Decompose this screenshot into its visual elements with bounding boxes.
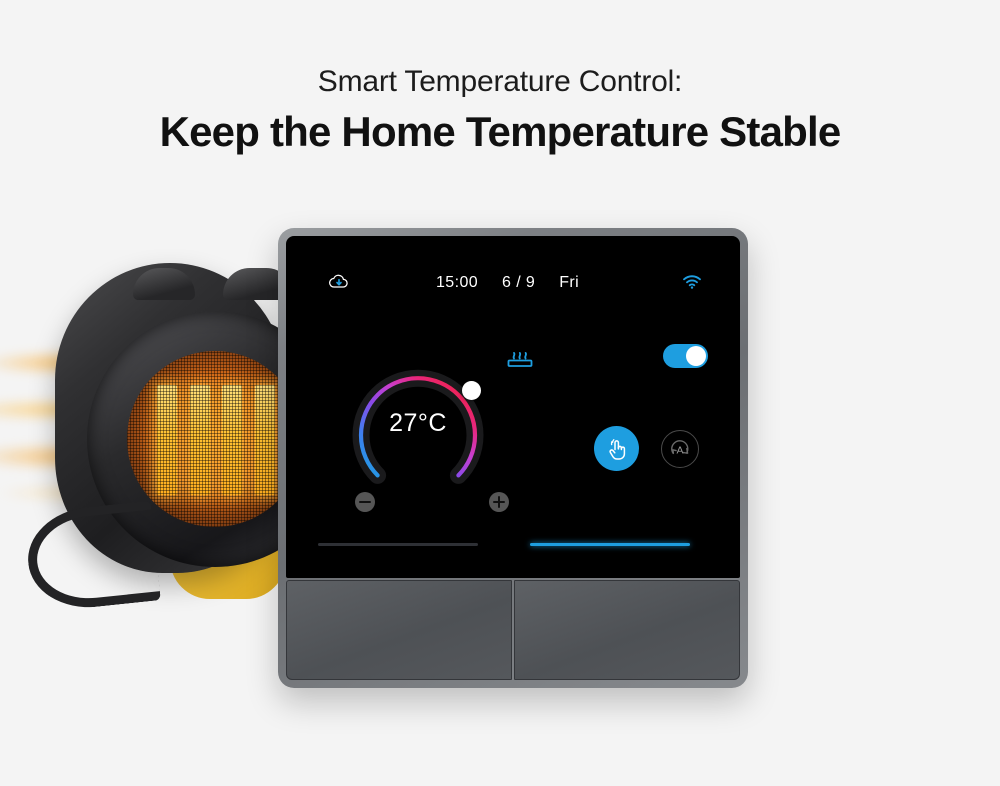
heating-element-icon bbox=[506, 344, 534, 375]
rocker-button-left[interactable] bbox=[286, 580, 512, 680]
temperature-increase-button[interactable] bbox=[488, 491, 510, 513]
rocker-button-group bbox=[286, 580, 740, 680]
manual-mode-button[interactable] bbox=[594, 426, 639, 471]
status-bar: 15:00 6 / 9 Fri bbox=[286, 274, 740, 296]
temperature-decrease-button[interactable] bbox=[354, 491, 376, 513]
power-toggle-knob bbox=[686, 346, 706, 366]
cloud-download-icon bbox=[328, 272, 350, 297]
auto-circle-arrow-icon: A bbox=[667, 436, 693, 462]
headline-main: Keep the Home Temperature Stable bbox=[0, 104, 1000, 160]
heater-knob-thermostat bbox=[133, 268, 195, 300]
dial-knob-handle[interactable] bbox=[462, 381, 481, 400]
dial-temperature-value: 27°C bbox=[344, 409, 492, 438]
temperature-dial[interactable]: 27°C bbox=[344, 351, 492, 499]
thermostat-screen: 15:00 6 / 9 Fri bbox=[286, 236, 740, 578]
wifi-icon bbox=[682, 274, 702, 295]
status-time: 15:00 bbox=[436, 274, 478, 292]
grille-mesh-overlay bbox=[127, 351, 303, 527]
indicator-bar-inactive[interactable] bbox=[318, 543, 478, 546]
rocker-button-right[interactable] bbox=[514, 580, 740, 680]
status-date: 6 / 9 bbox=[502, 274, 535, 292]
page-title: Smart Temperature Control: Keep the Home… bbox=[0, 62, 1000, 160]
smart-thermostat-panel: 15:00 6 / 9 Fri bbox=[278, 228, 748, 688]
power-toggle[interactable] bbox=[663, 344, 708, 368]
svg-text:A: A bbox=[676, 444, 683, 456]
indicator-bar-active[interactable] bbox=[530, 543, 690, 546]
heater-grille bbox=[127, 351, 303, 527]
status-weekday: Fri bbox=[559, 274, 579, 292]
headline-subtitle: Smart Temperature Control: bbox=[0, 62, 1000, 102]
auto-mode-button[interactable]: A bbox=[661, 430, 699, 468]
hand-tap-icon bbox=[605, 436, 629, 462]
